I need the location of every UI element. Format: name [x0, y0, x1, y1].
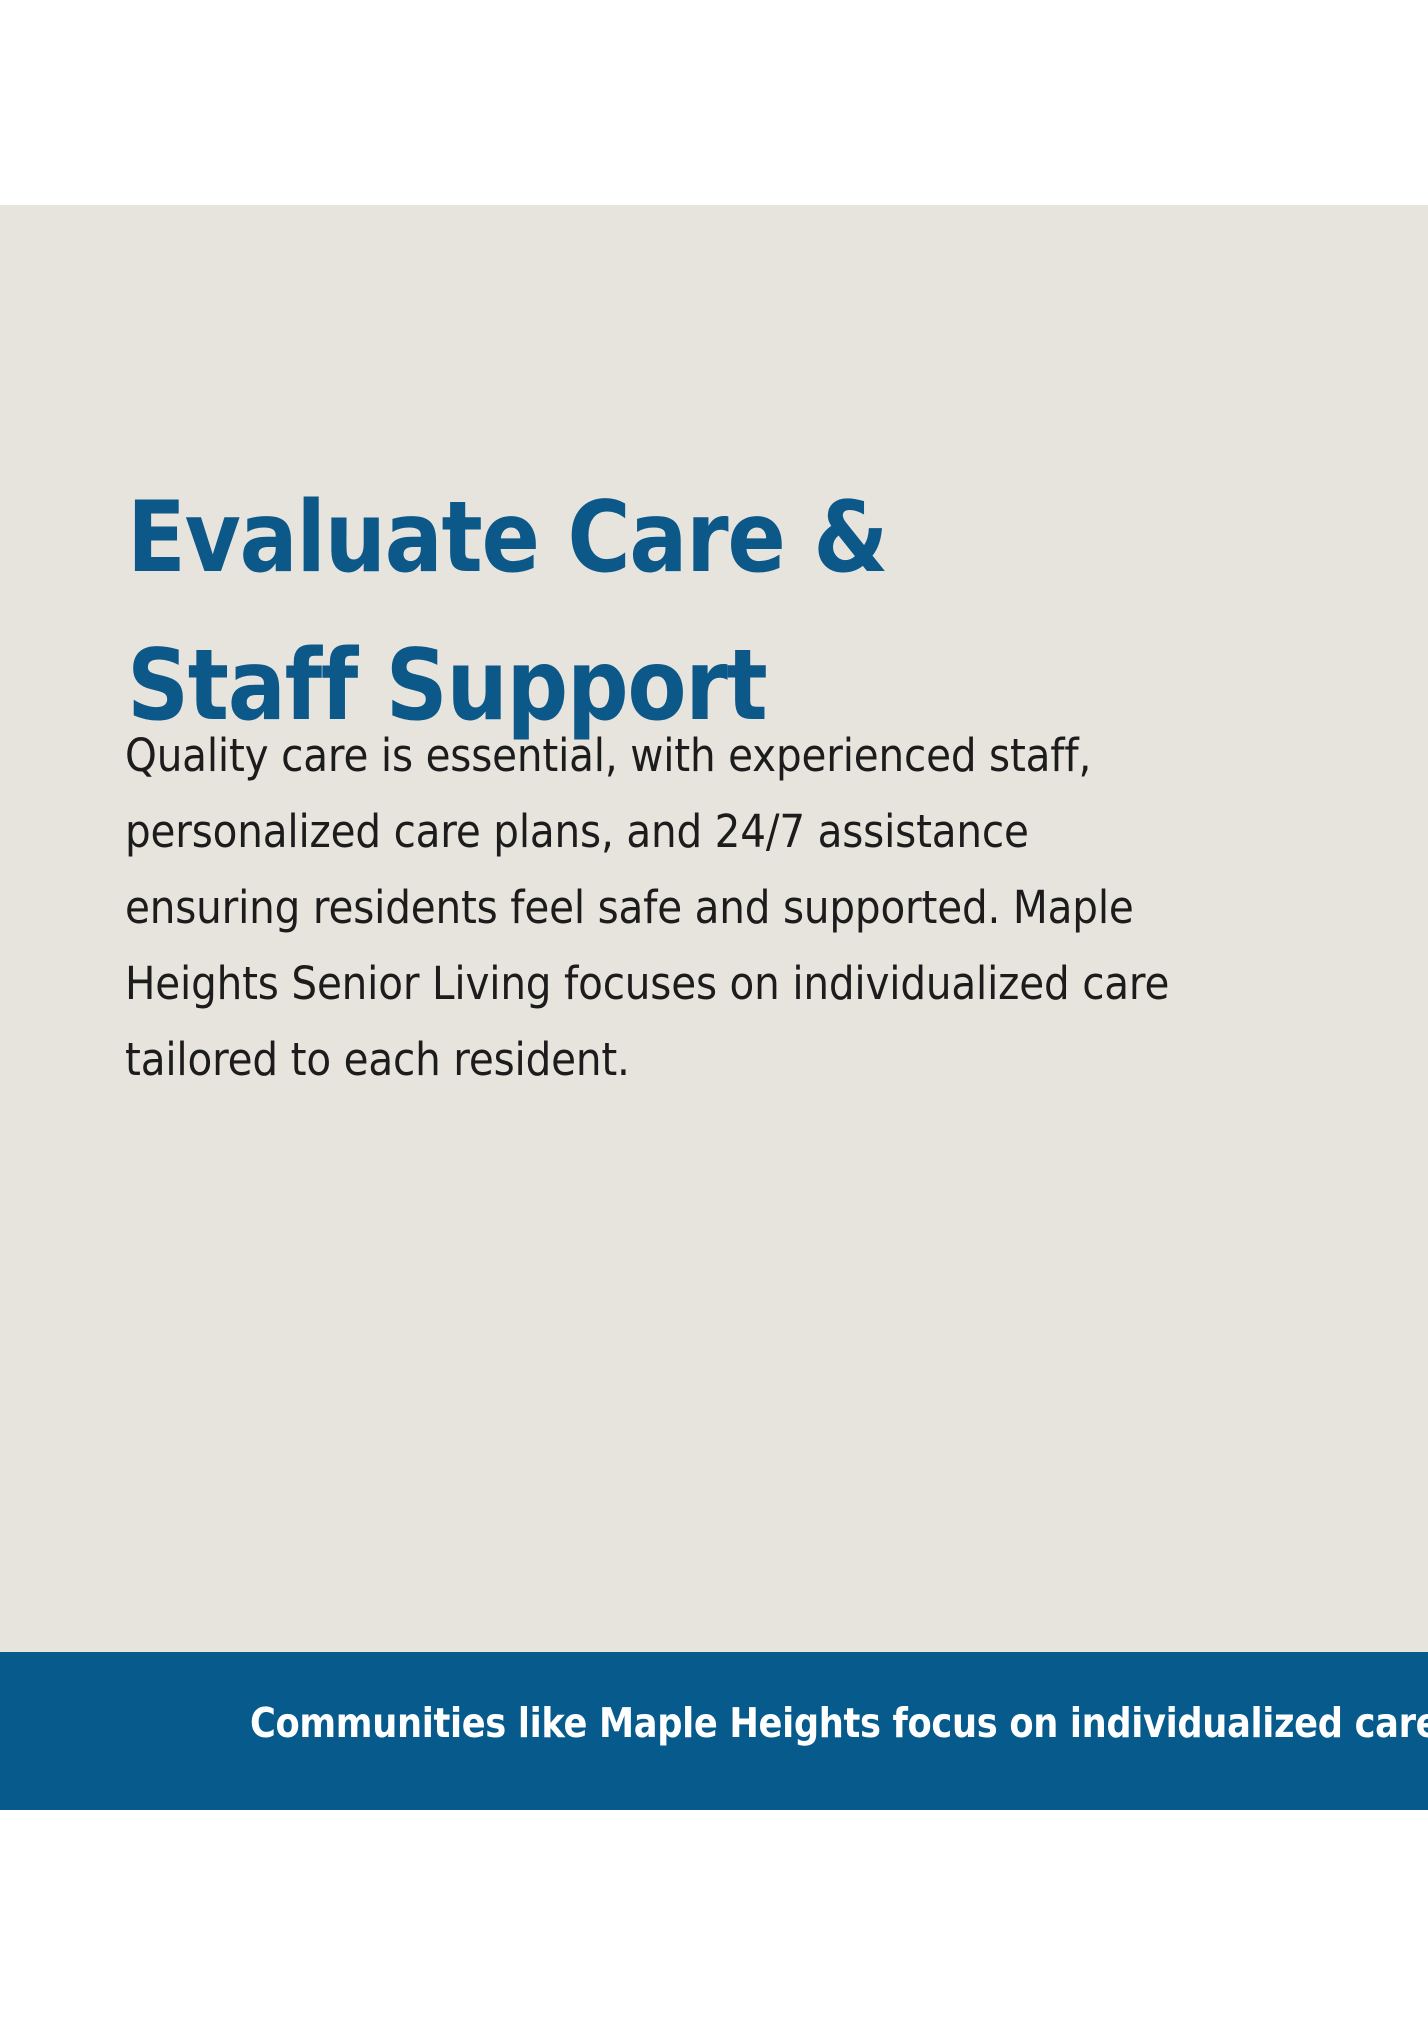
- body-paragraph-line-2: personalized care plans, and 24/7 assist…: [125, 794, 1428, 870]
- body-paragraph-line-4: Heights Senior Living focuses on individ…: [125, 946, 1428, 1022]
- body-paragraph-line-1: Quality care is essential, with experien…: [125, 718, 1428, 794]
- body-paragraph-line-3: ensuring residents feel safe and support…: [125, 870, 1428, 946]
- body-paragraph: Quality care is essential, with experien…: [125, 718, 1428, 1098]
- top-white-margin: [0, 0, 1428, 205]
- page-title: Evaluate Care & Staff Support: [127, 464, 1359, 760]
- bottom-white-margin: [0, 1810, 1428, 2018]
- body-paragraph-line-5: tailored to each resident.: [125, 1022, 1428, 1098]
- content-panel: Evaluate Care & Staff Support Quality ca…: [0, 205, 1428, 1652]
- page-canvas: Evaluate Care & Staff Support Quality ca…: [0, 0, 1428, 2018]
- caption-banner-text: Communities like Maple Heights focus on …: [250, 1695, 1428, 1751]
- page-title-line-1: Evaluate Care &: [127, 464, 1359, 612]
- caption-banner: Communities like Maple Heights focus on …: [0, 1652, 1428, 1810]
